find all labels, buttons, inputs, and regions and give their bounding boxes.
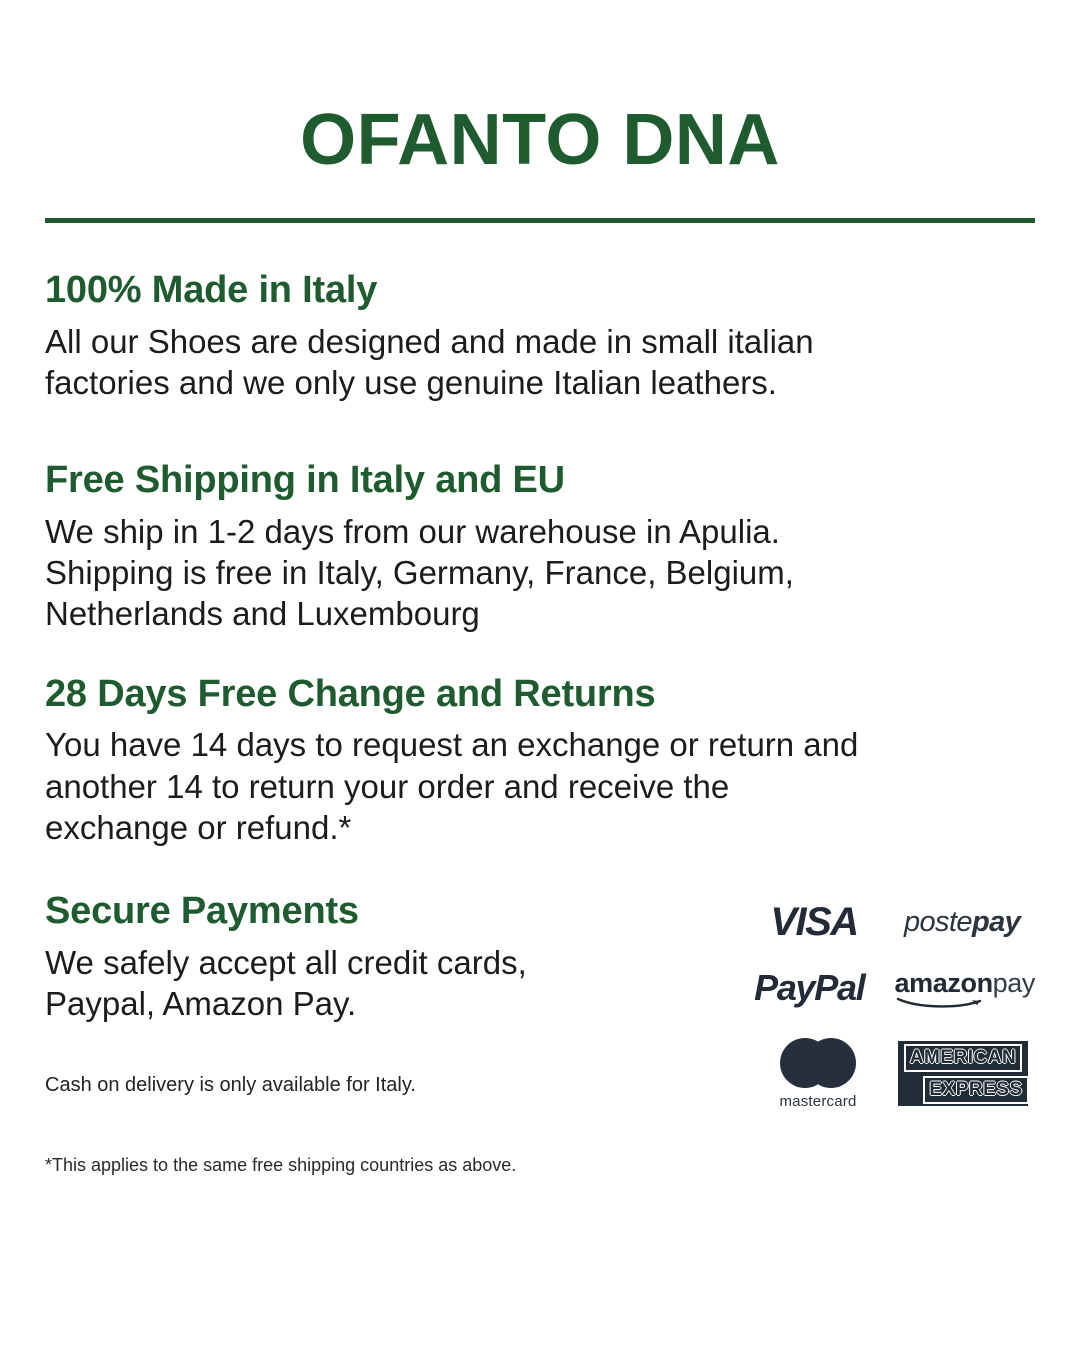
payment-logos: VISA postepay PayPal amazon pay — [750, 900, 1035, 1110]
body-line: We ship in 1-2 days from our warehouse i… — [45, 511, 1035, 552]
returns-footnote: *This applies to the same free shipping … — [45, 1154, 685, 1177]
visa-icon: VISA — [750, 900, 878, 945]
section-heading-returns: 28 Days Free Change and Returns — [45, 673, 1035, 717]
section-body-secure-payments: We safely accept all credit cards, Paypa… — [45, 942, 685, 1025]
amazon-smile-arrow-icon — [896, 997, 988, 1009]
sections-container: 100% Made in Italy All our Shoes are des… — [45, 223, 1035, 1178]
body-line: You have 14 days to request an exchange … — [45, 724, 1035, 765]
page-title: OFANTO DNA — [45, 0, 1035, 176]
amex-line-1: AMERICAN — [904, 1044, 1022, 1072]
paypal-icon: PayPal — [750, 967, 869, 1009]
payment-logo-row-1: VISA postepay — [750, 900, 1035, 945]
body-line: Netherlands and Luxembourg — [45, 593, 1035, 634]
section-free-shipping: Free Shipping in Italy and EU We ship in… — [45, 459, 1035, 634]
postepay-bold-text: pay — [972, 906, 1020, 939]
section-made-in-italy: 100% Made in Italy All our Shoes are des… — [45, 269, 1035, 403]
section-heading-free-shipping: Free Shipping in Italy and EU — [45, 459, 1035, 503]
postepay-icon: postepay — [904, 906, 1020, 939]
mastercard-label: mastercard — [779, 1093, 856, 1110]
cash-on-delivery-note: Cash on delivery is only available for I… — [45, 1072, 685, 1098]
mastercard-circles-icon — [777, 1037, 859, 1089]
body-line: another 14 to return your order and rece… — [45, 766, 1035, 807]
payment-logo-row-3: mastercard AMERICAN EXPRESS — [750, 1037, 1035, 1110]
amazon-pay-icon: amazon pay — [895, 968, 1035, 1008]
body-line: All our Shoes are designed and made in s… — [45, 321, 1035, 362]
amazon-word-text: amazon — [895, 968, 993, 999]
body-line: exchange or refund.* — [45, 807, 1035, 848]
section-body-returns: You have 14 days to request an exchange … — [45, 724, 1035, 848]
body-line: factories and we only use genuine Italia… — [45, 362, 1035, 403]
body-line: We safely accept all credit cards, — [45, 942, 685, 983]
payment-logo-row-2: PayPal amazon pay — [750, 967, 1035, 1009]
section-heading-secure-payments: Secure Payments — [45, 890, 685, 934]
body-line: Paypal, Amazon Pay. — [45, 983, 685, 1024]
body-line: Shipping is free in Italy, Germany, Fran… — [45, 552, 1035, 593]
section-body-free-shipping: We ship in 1-2 days from our warehouse i… — [45, 511, 1035, 635]
secure-payments-text: Secure Payments We safely accept all cre… — [45, 890, 685, 1178]
mastercard-icon: mastercard — [768, 1037, 868, 1110]
section-returns: 28 Days Free Change and Returns You have… — [45, 673, 1035, 848]
section-body-made-in-italy: All our Shoes are designed and made in s… — [45, 321, 1035, 404]
american-express-icon: AMERICAN EXPRESS — [898, 1041, 1028, 1106]
section-heading-made-in-italy: 100% Made in Italy — [45, 269, 1035, 313]
section-secure-payments: Secure Payments We safely accept all cre… — [45, 890, 1035, 1178]
amex-line-2: EXPRESS — [923, 1076, 1028, 1104]
ofanto-dna-info-card: OFANTO DNA 100% Made in Italy All our Sh… — [0, 0, 1080, 1350]
postepay-light-text: poste — [904, 906, 972, 939]
amazon-pay-text: pay — [993, 968, 1035, 999]
